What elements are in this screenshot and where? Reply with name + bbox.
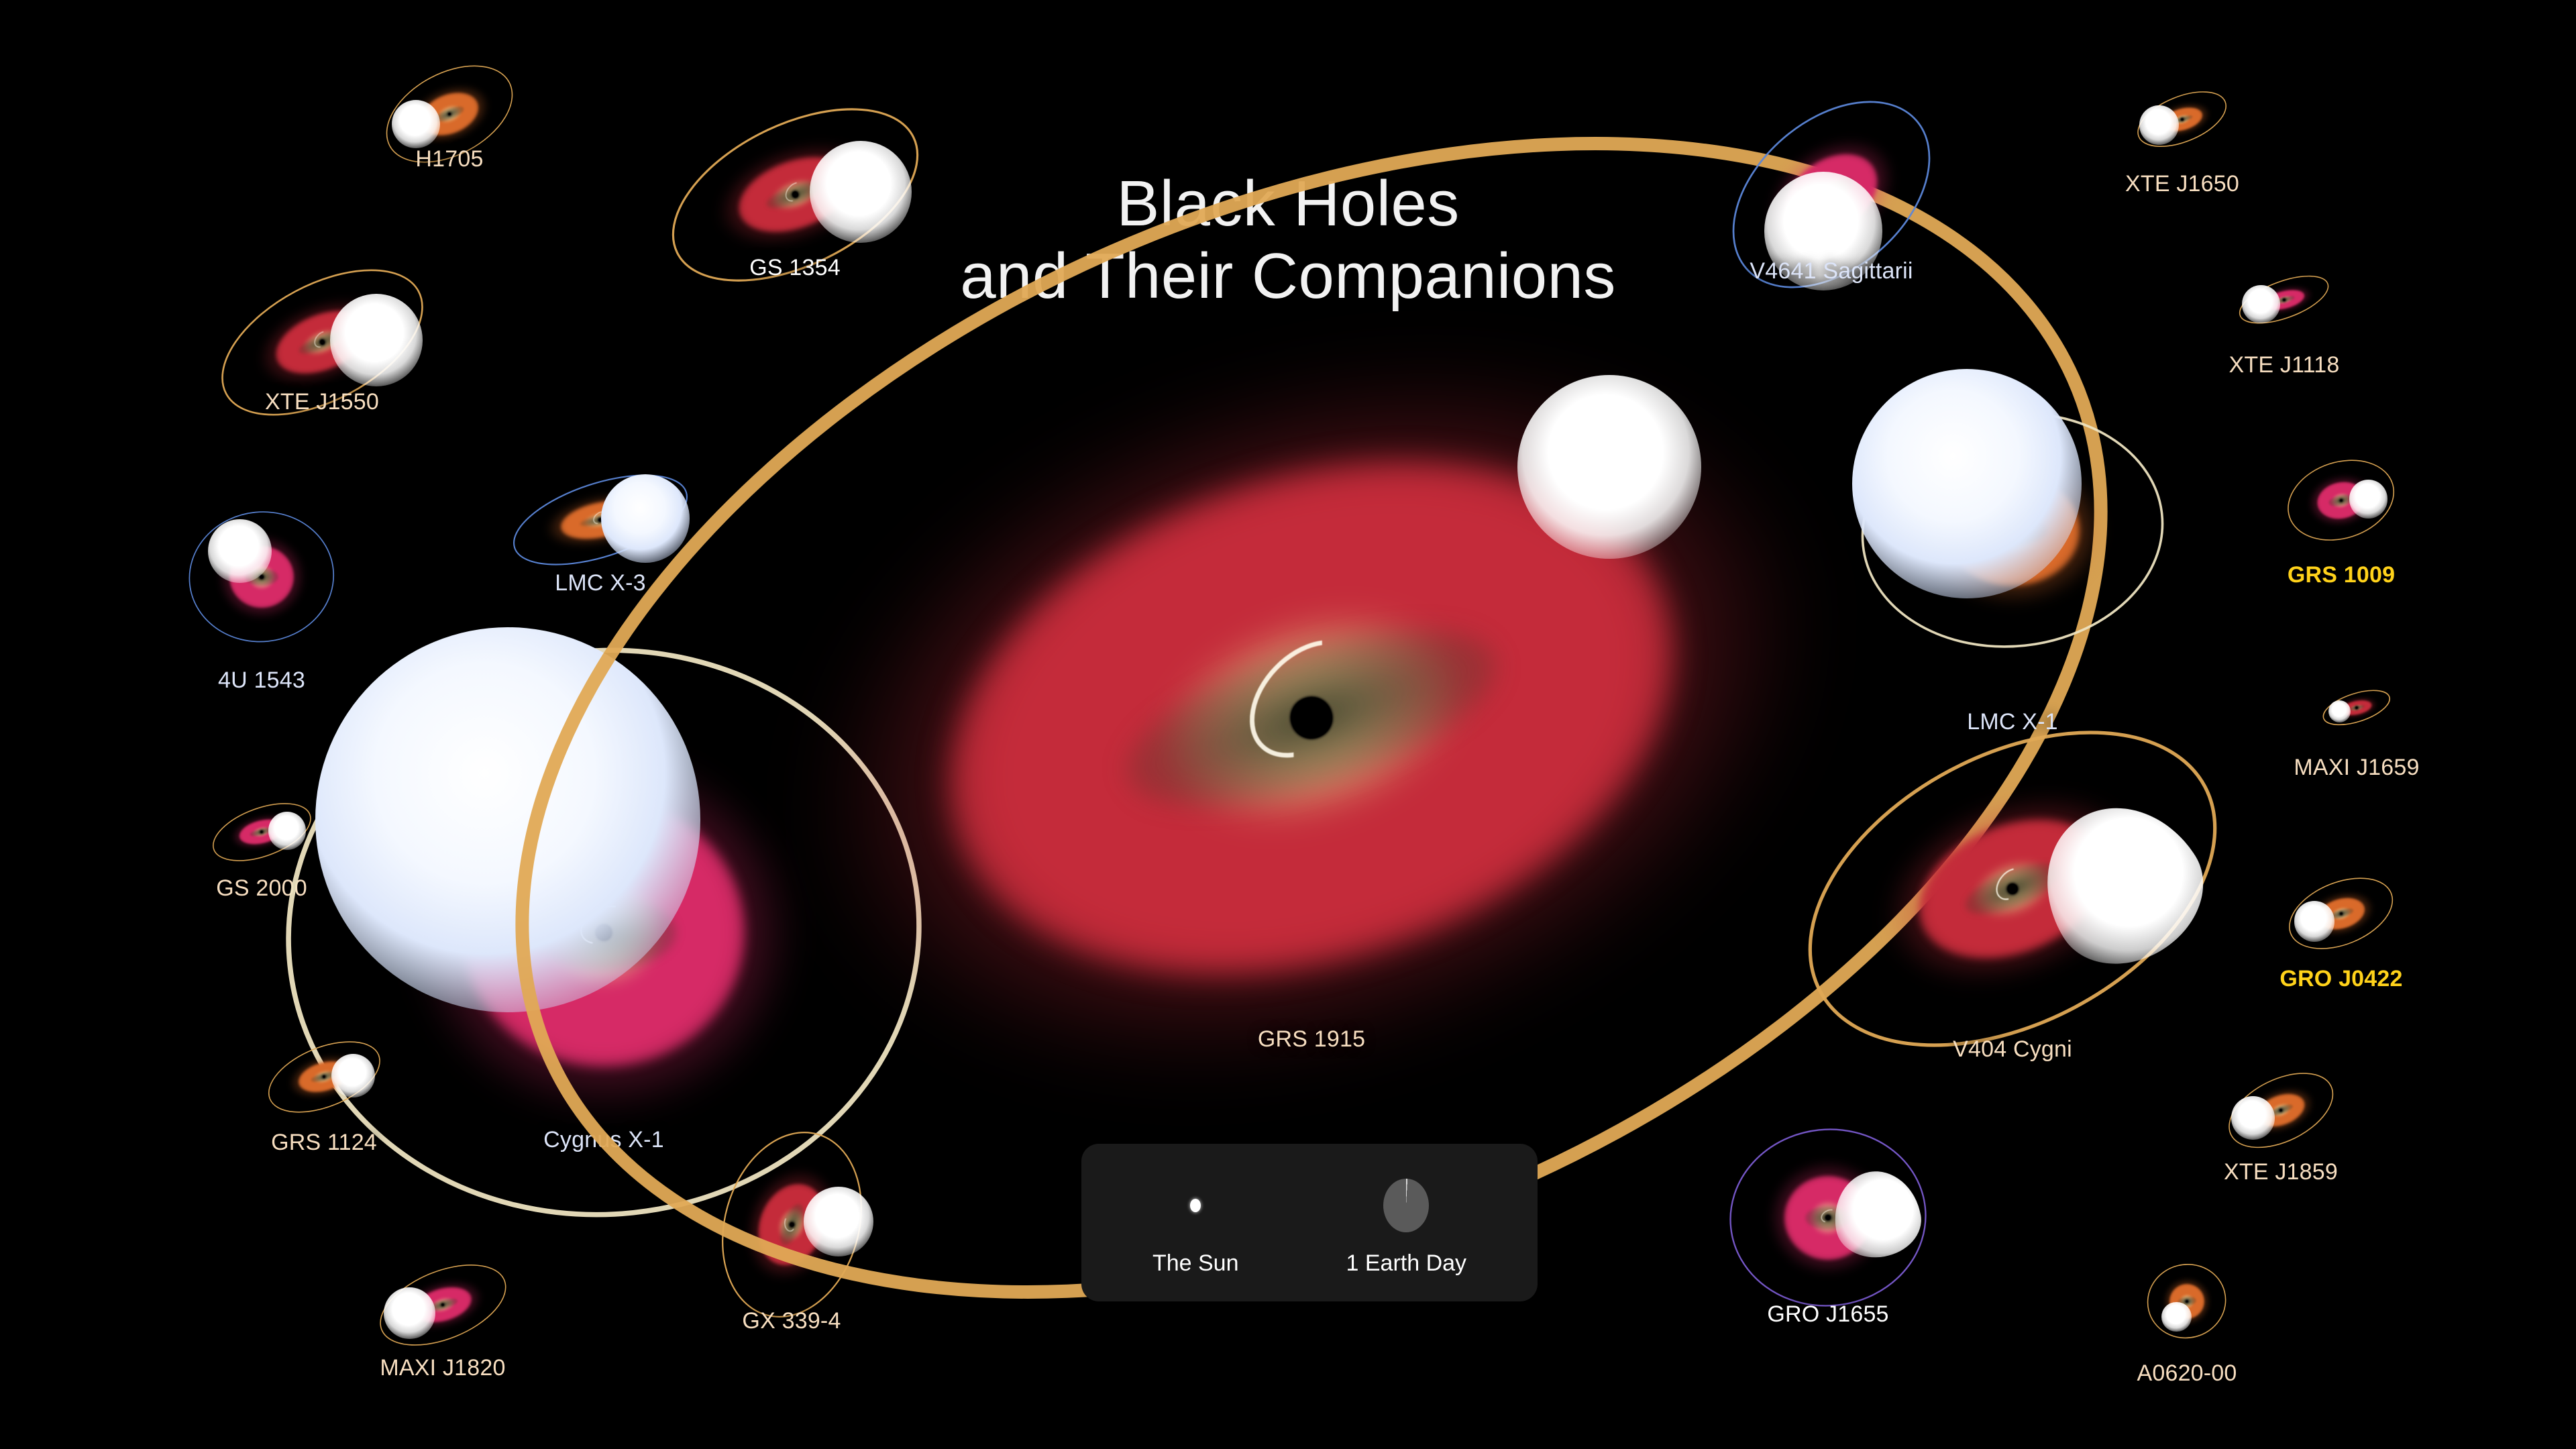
system-label[interactable]: GRS 1915: [1258, 1026, 1365, 1053]
black-hole-system[interactable]: [2141, 1256, 2232, 1346]
companion-star: [2231, 1096, 2275, 1140]
clock-day-icon: [1383, 1169, 1429, 1242]
companion-star: [2242, 285, 2280, 323]
companion-star: [1852, 369, 2082, 598]
companion-star: [2139, 105, 2179, 145]
black-hole-system[interactable]: [2230, 246, 2338, 354]
companion-star: [2294, 901, 2334, 941]
companion-star: [1517, 375, 1701, 559]
system-label[interactable]: V4641 Sagittarii: [1750, 258, 1913, 284]
legend-item-sun: The Sun: [1152, 1169, 1239, 1277]
sun-dot-icon: [1190, 1169, 1201, 1242]
black-hole-system[interactable]: [2278, 437, 2404, 563]
black-hole-system[interactable]: [1701, 64, 1962, 325]
black-hole-system[interactable]: [2128, 65, 2236, 173]
system-label[interactable]: GRO J1655: [1767, 1301, 1888, 1328]
black-hole-system[interactable]: [2216, 1046, 2345, 1175]
companion-star: [2161, 1302, 2191, 1332]
sky-canvas: Black Holes and Their Companions H1705GS…: [0, 0, 2576, 1449]
event-horizon: [1825, 1215, 1830, 1220]
system-label[interactable]: XTE J1859: [2224, 1159, 2338, 1185]
system-label[interactable]: GRS 1009: [2288, 562, 2395, 588]
black-hole-system[interactable]: [1760, 636, 2265, 1142]
legend-caption-sun: The Sun: [1152, 1250, 1239, 1277]
legend-item-earth-day: 1 Earth Day: [1346, 1169, 1467, 1277]
black-hole-system[interactable]: [2316, 667, 2397, 748]
system-label[interactable]: XTE J1650: [2125, 171, 2239, 197]
companion-star: [2328, 700, 2351, 722]
system-label[interactable]: MAXI J1659: [2294, 755, 2419, 781]
scale-legend: The Sun 1 Earth Day: [1081, 1144, 1538, 1301]
legend-caption-earth-day: 1 Earth Day: [1346, 1250, 1467, 1277]
black-hole-system[interactable]: [2278, 851, 2404, 976]
system-label[interactable]: A0620-00: [2137, 1360, 2237, 1387]
system-label[interactable]: XTE J1118: [2229, 352, 2340, 378]
companion-star: [2349, 480, 2387, 518]
system-label[interactable]: GRO J0422: [2279, 966, 2402, 992]
system-label[interactable]: V404 Cygni: [1953, 1036, 2072, 1063]
black-hole-system[interactable]: [1715, 1104, 1941, 1331]
